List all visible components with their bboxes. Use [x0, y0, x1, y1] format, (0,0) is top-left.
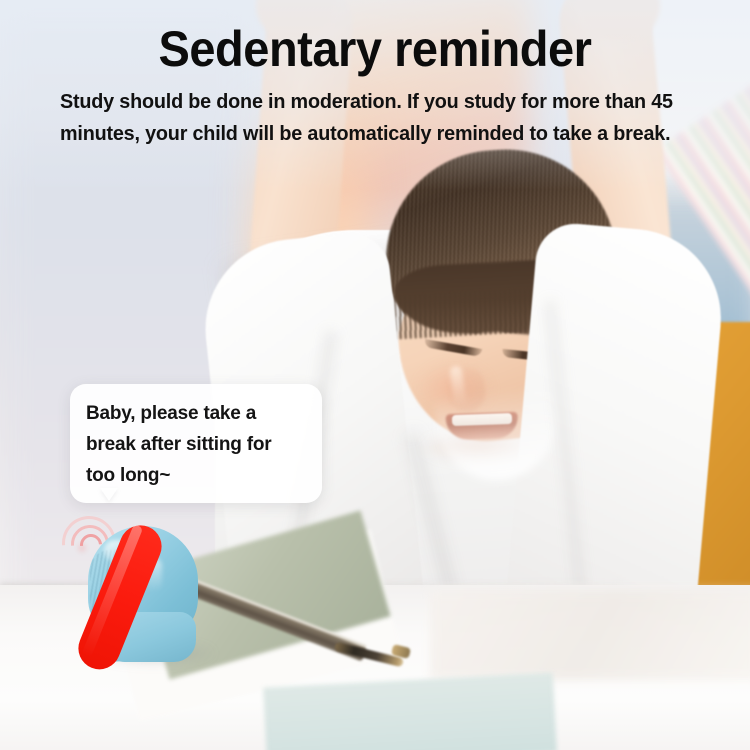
- sedentary-reminder-device[interactable]: [60, 500, 260, 690]
- speech-bubble-line-2: break after sitting for: [86, 429, 306, 460]
- desk-marble-area: [430, 590, 750, 680]
- promo-banner: Sedentary reminder Study should be done …: [0, 0, 750, 750]
- page-title: Sedentary reminder: [23, 22, 728, 76]
- speech-bubble: Baby, please take a break after sitting …: [70, 384, 322, 503]
- speech-bubble-line-1: Baby, please take a: [86, 398, 306, 429]
- speech-bubble-line-3: too long~: [86, 460, 306, 491]
- page-subtitle: Study should be done in moderation. If y…: [60, 86, 678, 150]
